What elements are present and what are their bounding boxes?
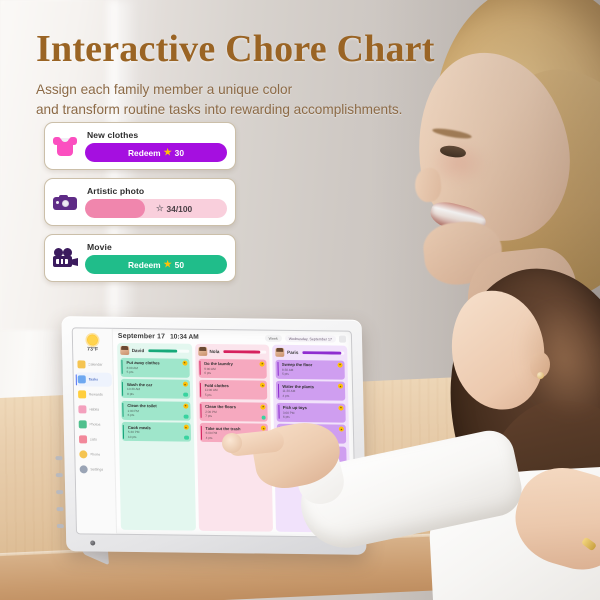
task-done-icon[interactable] xyxy=(262,415,266,419)
task-done-icon[interactable] xyxy=(184,414,188,418)
sidebar-item-label: Habits xyxy=(89,407,99,411)
sidebar-item-label: Tasks xyxy=(88,377,98,381)
star-badge-icon: ★ xyxy=(338,405,343,410)
subtitle-line-1: Assign each family member a unique color xyxy=(36,82,292,97)
gear-icon xyxy=(79,465,87,473)
lists-icon xyxy=(78,435,86,443)
task-card[interactable]: Pick up toys 3:00 PM 6 pts ★ xyxy=(277,402,346,422)
task-points: 7 pts xyxy=(205,414,265,419)
task-card[interactable]: Sweep the floor 8:30 AM 5 pts ★ xyxy=(276,359,345,379)
reward-cost: 50 xyxy=(175,260,184,270)
column-header: Paris xyxy=(276,348,345,358)
task-card[interactable]: Clean the floors 2:00 PM 7 pts ★ xyxy=(199,402,268,422)
active-indicator xyxy=(75,374,77,385)
sidebar-item-label: Settings xyxy=(90,467,103,471)
temperature-label: 73°F xyxy=(87,346,98,352)
star-icon: ★ xyxy=(164,260,172,269)
task-card[interactable]: Cook meals 5:30 PM 10 pts ★ xyxy=(122,422,191,442)
habits-icon xyxy=(78,405,86,413)
redeem-label: Redeem xyxy=(128,148,161,158)
task-done-icon[interactable] xyxy=(184,393,188,397)
page-title: Interactive Chore Chart xyxy=(36,30,456,70)
reward-title: New clothes xyxy=(87,130,227,140)
member-progress xyxy=(302,351,345,355)
task-points: 6 pts xyxy=(283,415,343,420)
column-header: David xyxy=(120,346,189,356)
reward-progress-bar[interactable]: ☆ 34/100 xyxy=(85,199,227,218)
reward-card-new-clothes[interactable]: New clothes Redeem ★ 30 xyxy=(44,122,236,170)
task-points: 5 pts xyxy=(282,372,342,377)
task-card[interactable]: Clean the toilet 1:00 PM 6 pts ★ xyxy=(121,401,190,421)
member-progress xyxy=(148,349,189,353)
redeem-button[interactable]: Redeem ★ 50 xyxy=(85,255,227,274)
task-points: 5 pts xyxy=(205,393,265,398)
star-badge-icon: ★ xyxy=(261,404,266,409)
star-badge-icon: ★ xyxy=(183,403,188,408)
avatar xyxy=(276,348,285,357)
rewards-icon xyxy=(78,390,86,398)
task-points: 4 pts xyxy=(282,394,342,399)
task-points: 6 pts xyxy=(204,371,264,376)
sidebar-item-label: Phone xyxy=(90,452,100,456)
task-card[interactable]: Do the laundry 9:00 AM 6 pts ★ xyxy=(198,359,267,379)
star-badge-icon: ★ xyxy=(338,362,343,367)
header-time: 10:34 AM xyxy=(170,334,199,341)
photos-icon xyxy=(78,420,86,428)
sidebar-item-label: Calendar xyxy=(88,362,103,366)
calendar-icon xyxy=(77,360,85,368)
star-badge-icon: ★ xyxy=(183,382,188,387)
star-badge-icon: ★ xyxy=(339,427,344,432)
sidebar-item-label: Photos xyxy=(89,422,100,426)
avatar xyxy=(198,347,207,356)
sidebar-item-settings[interactable]: Settings xyxy=(77,462,113,476)
sidebar-item-label: Lists xyxy=(90,437,97,441)
star-badge-icon: ★ xyxy=(260,383,265,388)
star-badge-icon: ★ xyxy=(182,360,187,365)
redeem-button[interactable]: Redeem ★ 30 xyxy=(85,143,227,162)
task-points: 5 pts xyxy=(127,370,187,375)
movie-camera-icon xyxy=(52,245,78,271)
sidebar-item-photos[interactable]: Photos xyxy=(76,417,112,431)
app-sidebar: 73°F Calendar Tasks Rewards Habits xyxy=(73,328,117,533)
star-outline-icon: ☆ xyxy=(156,204,164,212)
star-badge-icon: ★ xyxy=(183,425,188,430)
sidebar-item-rewards[interactable]: Rewards xyxy=(75,387,111,401)
camera-icon xyxy=(52,189,78,215)
reward-cost: 30 xyxy=(175,148,184,158)
task-done-icon[interactable] xyxy=(184,436,188,440)
more-icon[interactable] xyxy=(339,336,346,343)
redeem-label: Redeem xyxy=(128,260,161,270)
progress-fill xyxy=(85,199,145,218)
reward-card-artistic-photo[interactable]: Artistic photo ☆ 34/100 xyxy=(44,178,236,226)
day-chip[interactable]: Wednesday, September 17 xyxy=(285,335,336,343)
member-name: David xyxy=(132,348,145,353)
task-points: 10 pts xyxy=(128,435,188,440)
avatar xyxy=(120,346,129,355)
task-card[interactable]: Fold clothes 11:00 AM 5 pts ★ xyxy=(199,380,268,400)
task-card[interactable]: Water the plants 11:30 AM 4 pts ★ xyxy=(276,381,345,401)
star-icon: ★ xyxy=(164,148,172,157)
task-card[interactable]: Wash the car 10:30 AM 8 pts ★ xyxy=(121,379,190,399)
headline-block: Interactive Chore Chart Assign each fami… xyxy=(36,30,456,120)
sidebar-item-calendar[interactable]: Calendar xyxy=(75,357,111,371)
member-name: Nola xyxy=(209,349,219,354)
reward-card-movie[interactable]: Movie Redeem ★ 50 xyxy=(44,234,236,282)
member-name: Paris xyxy=(287,350,298,355)
sidebar-item-phone[interactable]: Phone xyxy=(77,447,113,461)
subtitle-line-2: and transform routine tasks into rewardi… xyxy=(36,102,402,117)
chore-column-david: David Put away clothes 8:00 AM 5 pts ★ W… xyxy=(117,343,196,531)
star-badge-icon: ★ xyxy=(260,361,265,366)
sidebar-item-label: Rewards xyxy=(89,392,103,396)
girl-fingertip xyxy=(222,433,242,453)
tshirt-icon xyxy=(52,133,78,159)
column-header: Nola xyxy=(198,347,267,357)
progress-label: 34/100 xyxy=(167,204,193,214)
phone-icon xyxy=(79,450,87,458)
tasks-icon xyxy=(77,375,85,383)
reward-title: Movie xyxy=(87,242,227,252)
tablet-side-buttons[interactable] xyxy=(55,456,64,528)
weather-widget[interactable]: 73°F xyxy=(87,334,98,352)
task-card[interactable]: Put away clothes 8:00 AM 5 pts ★ xyxy=(120,358,189,378)
sun-icon xyxy=(87,334,98,345)
reward-cards-list: New clothes Redeem ★ 30 Artistic photo xyxy=(44,122,236,290)
sidebar-item-lists[interactable]: Lists xyxy=(76,432,112,446)
member-progress xyxy=(223,350,267,354)
tablet-camera-icon xyxy=(90,540,95,545)
task-points: 8 pts xyxy=(127,392,187,397)
view-selector[interactable]: Week xyxy=(265,335,282,342)
sidebar-item-habits[interactable]: Habits xyxy=(76,402,112,416)
header-date: September 17 xyxy=(118,333,165,341)
reward-title: Artistic photo xyxy=(87,186,227,196)
task-points: 6 pts xyxy=(128,413,188,418)
page-subtitle: Assign each family member a unique color… xyxy=(36,80,456,120)
star-badge-icon: ★ xyxy=(338,384,343,389)
sidebar-item-tasks[interactable]: Tasks xyxy=(75,372,111,386)
